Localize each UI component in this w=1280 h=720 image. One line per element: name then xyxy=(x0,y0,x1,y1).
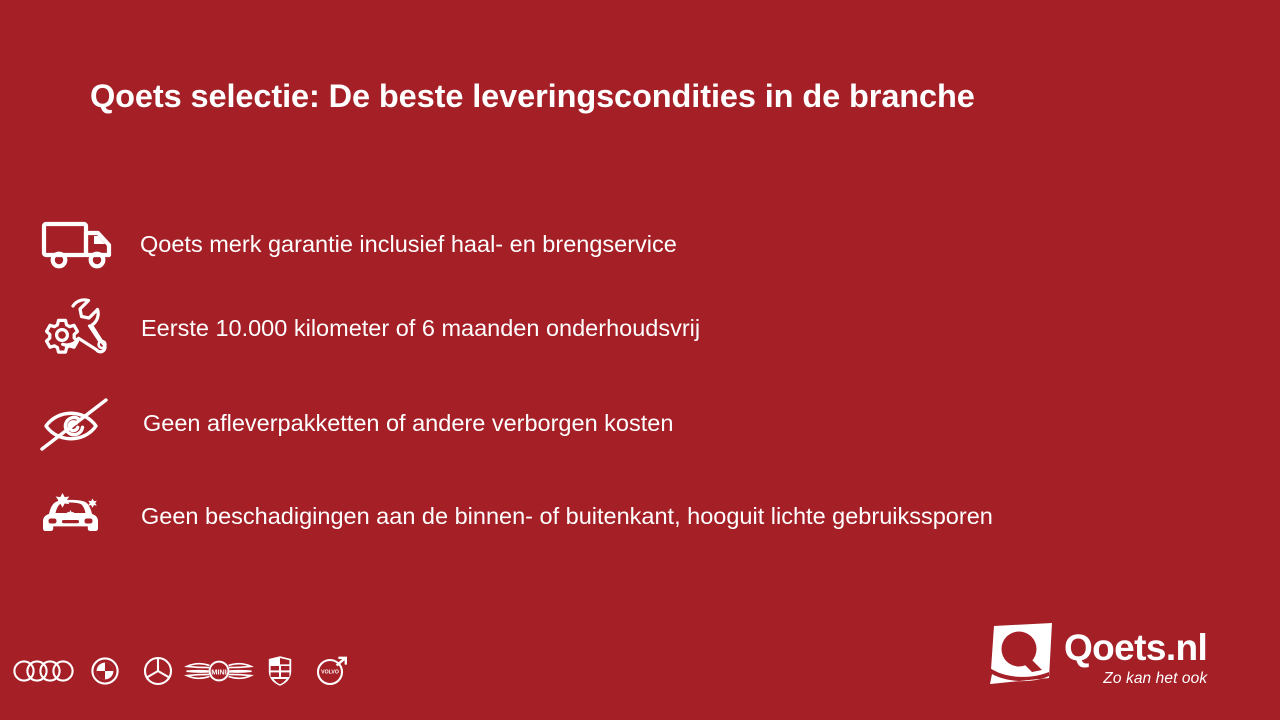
damaged-car-icon xyxy=(40,485,124,547)
bmw-logo-icon xyxy=(78,649,132,693)
qoets-tagline: Zo kan het ook xyxy=(1103,669,1207,689)
volvo-logo-icon: VOLVO xyxy=(306,649,358,693)
feature-item-maintenance: Eerste 10.000 kilometer of 6 maanden ond… xyxy=(40,292,700,364)
feature-label: Qoets merk garantie inclusief haal- en b… xyxy=(140,229,677,259)
mercedes-logo-icon xyxy=(132,649,184,693)
svg-text:VOLVO: VOLVO xyxy=(321,670,339,676)
feature-label: Eerste 10.000 kilometer of 6 maanden ond… xyxy=(141,313,700,343)
wrench-gear-icon xyxy=(40,297,124,359)
feature-item-no-damage: Geen beschadigingen aan de binnen- of bu… xyxy=(40,480,993,552)
svg-text:MINI: MINI xyxy=(211,667,227,676)
qoets-wordmark: Qoets.nl xyxy=(1064,628,1207,668)
qoets-q-mark-icon xyxy=(986,622,1060,694)
eye-off-icon xyxy=(40,392,124,454)
qoets-wordblock: Qoets.nl Zo kan het ook xyxy=(1064,622,1207,689)
qoets-logo: Qoets.nl Zo kan het ook xyxy=(986,622,1238,696)
slide-canvas: Qoets selectie: De beste leveringscondit… xyxy=(0,0,1280,720)
feature-item-delivery: Qoets merk garantie inclusief haal- en b… xyxy=(40,208,677,280)
feature-item-no-hidden-costs: Geen afleverpakketten of andere verborge… xyxy=(40,387,673,459)
delivery-truck-icon xyxy=(40,213,124,275)
feature-label: Geen beschadigingen aan de binnen- of bu… xyxy=(141,501,993,531)
brand-logo-strip: MINI VOLVO xyxy=(12,648,358,694)
mini-logo-icon: MINI xyxy=(184,649,254,693)
audi-logo-icon xyxy=(12,649,78,693)
page-title: Qoets selectie: De beste leveringscondit… xyxy=(90,74,1190,118)
porsche-logo-icon xyxy=(254,649,306,693)
feature-label: Geen afleverpakketten of andere verborge… xyxy=(143,408,673,438)
